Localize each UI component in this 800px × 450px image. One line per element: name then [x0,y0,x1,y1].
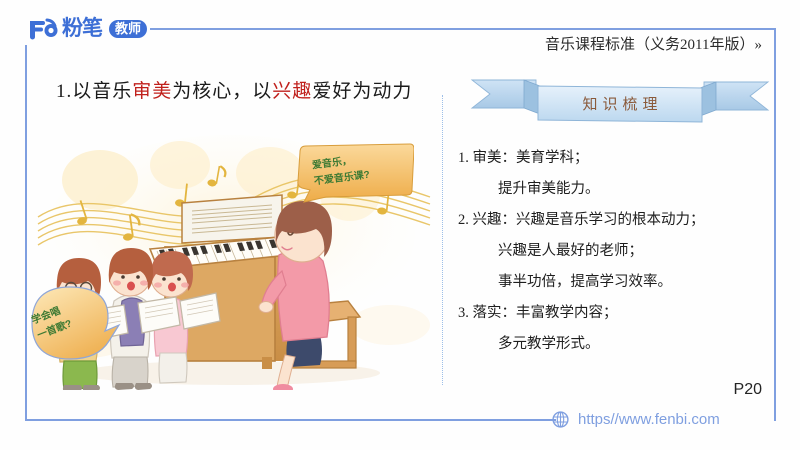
list-item: 2. 兴趣：兴趣是音乐学习的根本动力； [458,205,778,236]
speech-bubble-love-music-text: 爱音乐，不爱音乐课? [311,152,371,191]
list-item: 兴趣是人最好的老师； [458,236,778,267]
frame-line-left [25,45,27,420]
headline-part3: 爱好为动力 [312,81,412,102]
frame-line-bottom [25,419,556,421]
knowledge-list: 1. 审美：美育学科； 提升审美能力。 2. 兴趣：兴趣是音乐学习的根本动力； … [458,143,778,360]
list-item: 事半功倍，提高学习效率。 [458,267,778,298]
headline-keyword-interest: 兴趣 [272,81,312,102]
brand-name: 粉笔 [62,18,102,40]
slide-canvas: 粉笔 教师 音乐课程标准（义务2011年版）» 1.以音乐审美为核心，以兴趣爱好… [0,0,800,450]
frame-line-top [150,28,776,30]
list-item: 1. 审美：美育学科； [458,143,778,174]
fb-logo-icon [28,18,58,40]
page-number: P20 [734,381,762,399]
headline-keyword-aesthetics: 审美 [132,81,172,102]
column-divider-dotted [442,95,443,385]
speech-bubble-learn-song: 学会唱一首歌? [18,283,124,363]
ribbon-banner: 知识梳理 [470,76,770,126]
ribbon-label: 知识梳理 [470,76,770,126]
headline-part1: 以音乐 [72,81,132,102]
speech-bubble-love-music: 爱音乐，不爱音乐课? [296,142,414,204]
list-item: 多元教学形式。 [458,329,778,360]
brand-pill-label: 教师 [109,20,147,38]
brand-logo: 粉笔 教师 [28,14,147,44]
list-item: 3. 落实：丰富教学内容； [458,298,778,329]
globe-icon [552,411,569,428]
page-title: 1.以音乐审美为核心，以兴趣爱好为动力 [56,76,412,103]
headline-part2: 为核心，以 [172,81,272,102]
header-title: 音乐课程标准（义务2011年版）» [545,33,762,54]
headline-number: 1. [56,81,72,102]
list-item: 提升审美能力。 [458,174,778,205]
footer-url-link[interactable]: https//www.fenbi.com [578,411,720,428]
